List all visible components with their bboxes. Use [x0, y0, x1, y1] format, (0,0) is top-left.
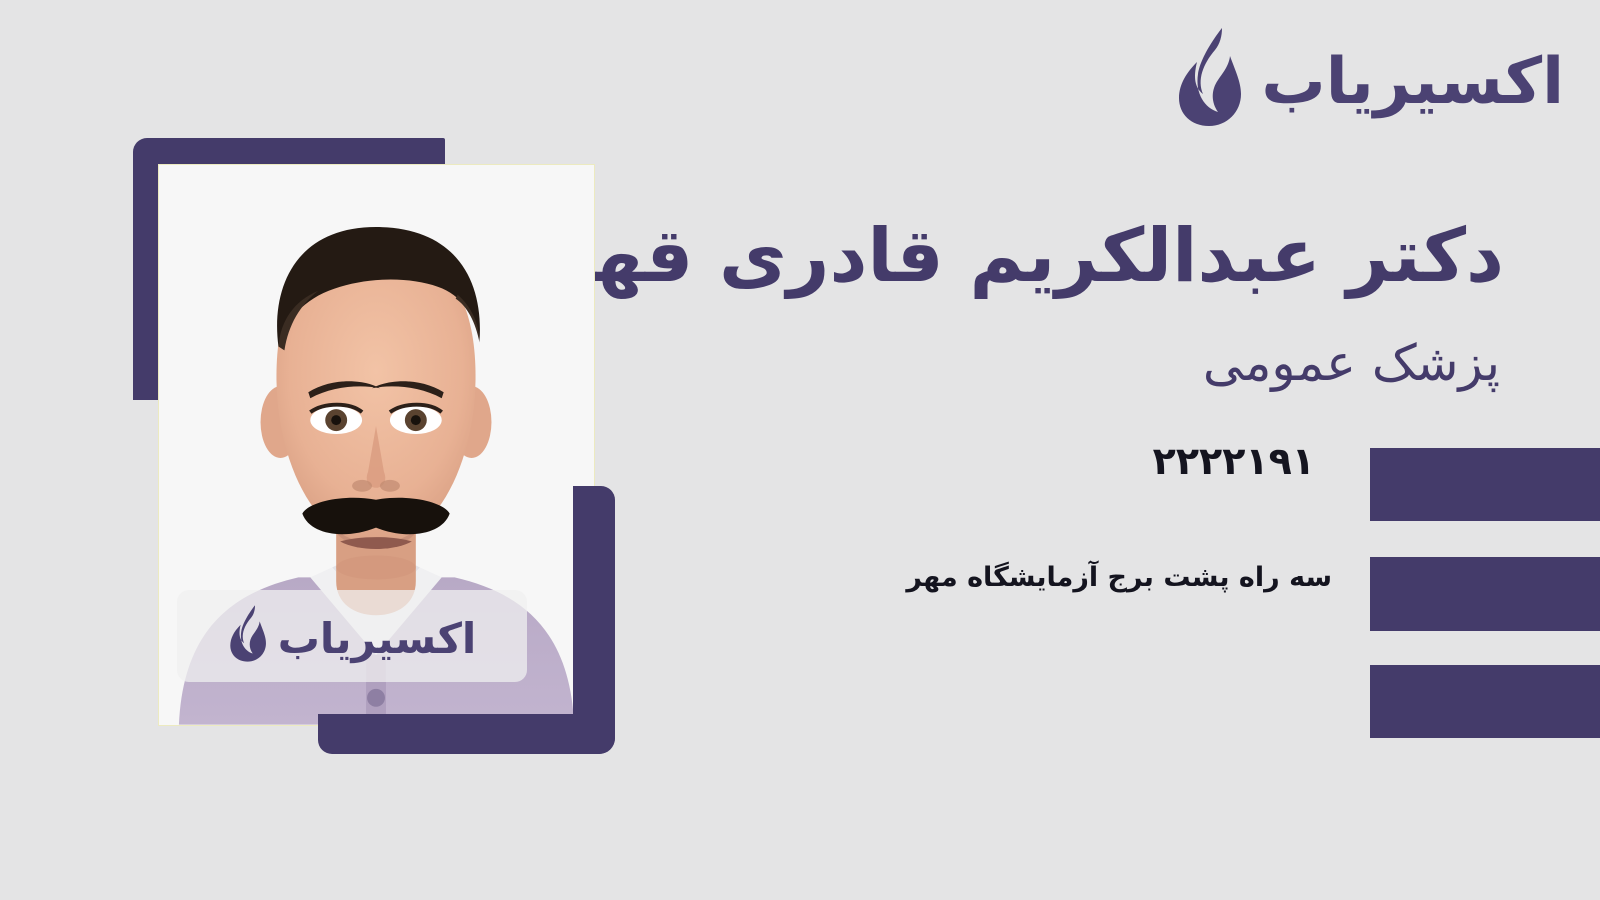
doctor-name: دکتر عبدالکریم قادری قهفرخ: [443, 214, 1504, 299]
flame-droplet-icon: [1175, 26, 1255, 130]
watermark-wordmark: اکسیریاب: [278, 618, 477, 660]
doctor-specialty: پزشک عمومی: [1203, 333, 1500, 393]
decorative-bar: [1370, 557, 1600, 631]
flame-droplet-icon: [228, 603, 274, 669]
decorative-bar: [1370, 665, 1600, 738]
brand-logo[interactable]: اکسیریاب: [1175, 26, 1564, 130]
brand-wordmark: اکسیریاب: [1261, 50, 1564, 114]
decorative-bar: [1370, 448, 1600, 521]
photo-watermark: اکسیریاب: [177, 590, 527, 682]
doctor-profile-card: اکسیریاب دکتر عبدالکریم قادری قهفرخ پزشک…: [0, 0, 1600, 900]
doctor-phone-number[interactable]: ۲۲۲۲۱۹۱: [1153, 439, 1315, 485]
doctor-address: سه راه پشت برج آزمایشگاه مهر: [906, 560, 1332, 595]
doctor-photo-block: اکسیریاب: [133, 138, 623, 758]
